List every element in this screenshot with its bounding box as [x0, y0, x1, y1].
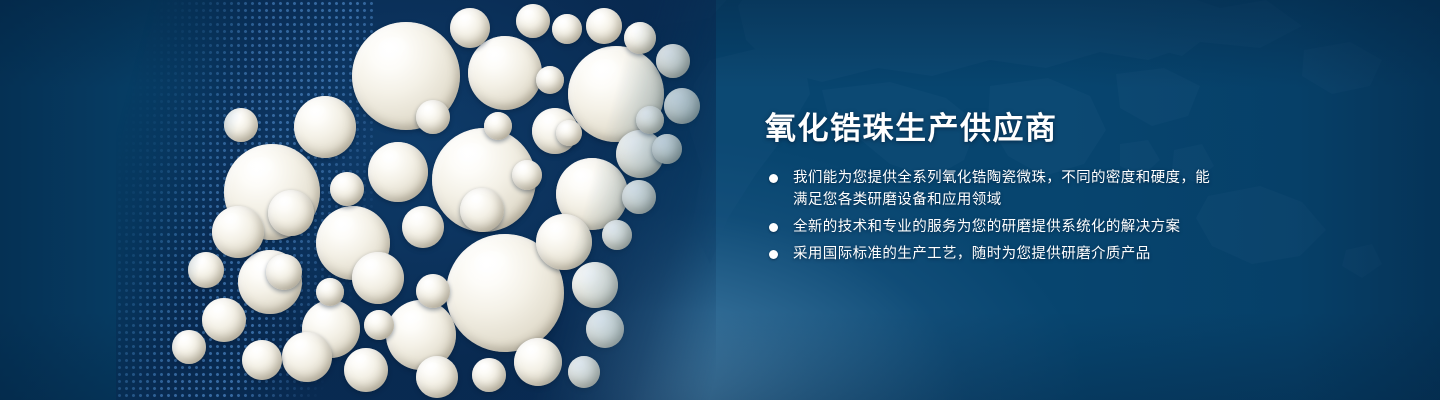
- feature-list: 我们能为您提供全系列氧化锆陶瓷微珠，不同的密度和硬度，能满足您各类研磨设备和应用…: [765, 167, 1225, 270]
- list-item: 全新的技术和专业的服务为您的研磨提供系统化的解决方案: [765, 216, 1225, 238]
- bead-cluster: [116, 0, 716, 400]
- product-image-zirconia-beads: [116, 0, 716, 400]
- bullet-dot-icon: [769, 223, 778, 232]
- bullet-dot-icon: [769, 174, 778, 183]
- list-item-label: 我们能为您提供全系列氧化锆陶瓷微珠，不同的密度和硬度，能满足您各类研磨设备和应用…: [793, 170, 1210, 208]
- list-item: 采用国际标准的生产工艺，随时为您提供研磨介质产品: [765, 243, 1225, 265]
- hero-banner: 氧化锆珠生产供应商 我们能为您提供全系列氧化锆陶瓷微珠，不同的密度和硬度，能满足…: [0, 0, 1440, 400]
- list-item-label: 全新的技术和专业的服务为您的研磨提供系统化的解决方案: [793, 219, 1180, 235]
- bullet-dot-icon: [769, 250, 778, 259]
- list-item: 我们能为您提供全系列氧化锆陶瓷微珠，不同的密度和硬度，能满足您各类研磨设备和应用…: [765, 167, 1225, 211]
- page-title: 氧化锆珠生产供应商: [765, 110, 1058, 149]
- banner-copy: 氧化锆珠生产供应商 我们能为您提供全系列氧化锆陶瓷微珠，不同的密度和硬度，能满足…: [765, 0, 1285, 400]
- list-item-label: 采用国际标准的生产工艺，随时为您提供研磨介质产品: [793, 246, 1151, 262]
